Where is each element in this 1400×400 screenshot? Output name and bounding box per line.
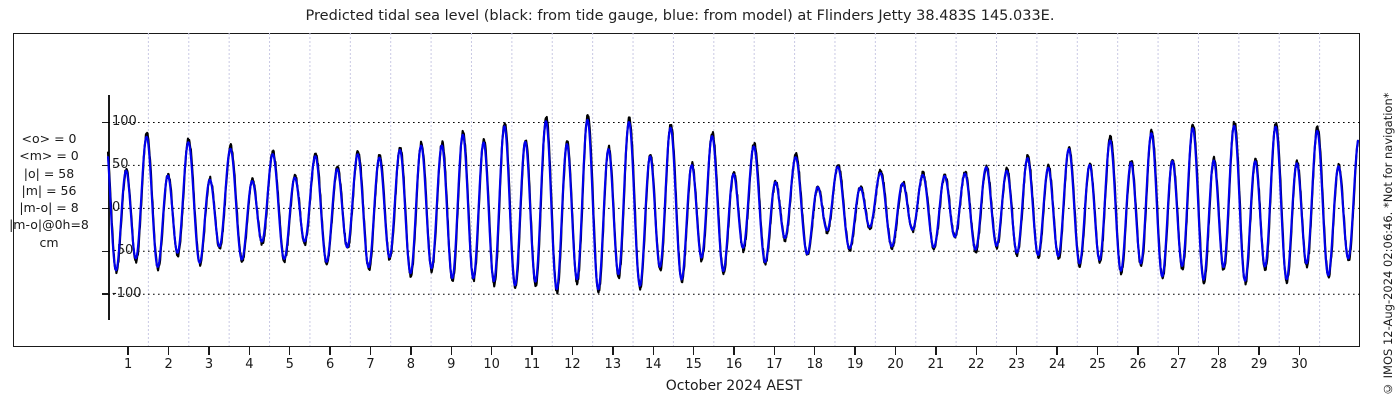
x-tick-mark bbox=[1178, 347, 1179, 355]
x-tick-label: 16 bbox=[714, 357, 754, 372]
x-tick-mark bbox=[208, 347, 209, 355]
x-tick-mark bbox=[895, 347, 896, 355]
x-tick-mark bbox=[814, 347, 815, 355]
x-tick-label: 4 bbox=[229, 357, 269, 372]
x-tick-mark bbox=[733, 347, 734, 355]
stat-mean-model: <m> = 0 bbox=[0, 147, 102, 164]
stat-mean-obs: <o> = 0 bbox=[0, 130, 102, 147]
x-tick-label: 24 bbox=[1037, 357, 1077, 372]
x-tick-label: 20 bbox=[876, 357, 916, 372]
x-tick-label: 7 bbox=[351, 357, 391, 372]
x-tick-mark bbox=[572, 347, 573, 355]
x-tick-mark bbox=[1137, 347, 1138, 355]
stat-abs-diff-0h: |m-o|@0h=8 bbox=[0, 216, 102, 233]
x-tick-mark bbox=[491, 347, 492, 355]
tidal-chart: Predicted tidal sea level (black: from t… bbox=[0, 0, 1400, 400]
series-observed-line bbox=[108, 115, 1358, 293]
x-tick-mark bbox=[976, 347, 977, 355]
x-tick-label: 13 bbox=[593, 357, 633, 372]
horizontal-gridlines bbox=[108, 122, 1360, 294]
x-tick-label: 12 bbox=[552, 357, 592, 372]
x-tick-label: 23 bbox=[997, 357, 1037, 372]
x-tick-label: 9 bbox=[431, 357, 471, 372]
x-axis bbox=[13, 346, 1360, 347]
x-tick-label: 18 bbox=[795, 357, 835, 372]
credit-text: © IMOS 12-Aug-2024 02:06:46. *Not for na… bbox=[1381, 0, 1400, 400]
stat-units: cm bbox=[0, 234, 102, 251]
x-tick-mark bbox=[1299, 347, 1300, 355]
plot-data-area bbox=[108, 95, 1360, 320]
x-tick-mark bbox=[935, 347, 936, 355]
x-tick-label: 1 bbox=[108, 357, 148, 372]
x-tick-mark bbox=[612, 347, 613, 355]
x-tick-mark bbox=[168, 347, 169, 355]
x-tick-label: 30 bbox=[1279, 357, 1319, 372]
x-tick-mark bbox=[329, 347, 330, 355]
statistics-block: <o> = 0 <m> = 0 |o| = 58 |m| = 56 |m-o| … bbox=[0, 130, 102, 251]
x-tick-label: 2 bbox=[149, 357, 189, 372]
x-tick-label: 10 bbox=[472, 357, 512, 372]
x-tick-mark bbox=[1056, 347, 1057, 355]
page-title: Predicted tidal sea level (black: from t… bbox=[0, 8, 1360, 24]
x-tick-mark bbox=[653, 347, 654, 355]
x-tick-label: 19 bbox=[835, 357, 875, 372]
x-tick-label: 26 bbox=[1118, 357, 1158, 372]
stat-abs-diff: |m-o| = 8 bbox=[0, 199, 102, 216]
x-tick-label: 27 bbox=[1158, 357, 1198, 372]
x-tick-mark bbox=[410, 347, 411, 355]
x-tick-mark bbox=[1097, 347, 1098, 355]
x-tick-mark bbox=[1258, 347, 1259, 355]
x-tick-label: 25 bbox=[1077, 357, 1117, 372]
x-tick-mark bbox=[127, 347, 128, 355]
x-tick-label: 6 bbox=[310, 357, 350, 372]
x-tick-mark bbox=[289, 347, 290, 355]
x-tick-label: 3 bbox=[189, 357, 229, 372]
x-tick-mark bbox=[249, 347, 250, 355]
x-axis-label: October 2024 AEST bbox=[108, 378, 1360, 394]
x-tick-mark bbox=[451, 347, 452, 355]
tidal-series-svg bbox=[108, 95, 1360, 320]
x-tick-mark bbox=[531, 347, 532, 355]
x-tick-mark bbox=[370, 347, 371, 355]
x-tick-label: 21 bbox=[916, 357, 956, 372]
x-tick-label: 8 bbox=[391, 357, 431, 372]
x-tick-mark bbox=[693, 347, 694, 355]
x-tick-label: 17 bbox=[754, 357, 794, 372]
stat-abs-obs: |o| = 58 bbox=[0, 165, 102, 182]
stat-abs-model: |m| = 56 bbox=[0, 182, 102, 199]
x-tick-mark bbox=[1016, 347, 1017, 355]
x-tick-label: 11 bbox=[512, 357, 552, 372]
x-tick-mark bbox=[854, 347, 855, 355]
x-tick-mark bbox=[774, 347, 775, 355]
x-tick-label: 28 bbox=[1199, 357, 1239, 372]
x-tick-label: 22 bbox=[956, 357, 996, 372]
series-model-line bbox=[108, 120, 1358, 289]
x-tick-label: 15 bbox=[674, 357, 714, 372]
x-tick-label: 14 bbox=[633, 357, 673, 372]
x-tick-mark bbox=[1218, 347, 1219, 355]
x-tick-label: 5 bbox=[270, 357, 310, 372]
x-tick-label: 29 bbox=[1239, 357, 1279, 372]
